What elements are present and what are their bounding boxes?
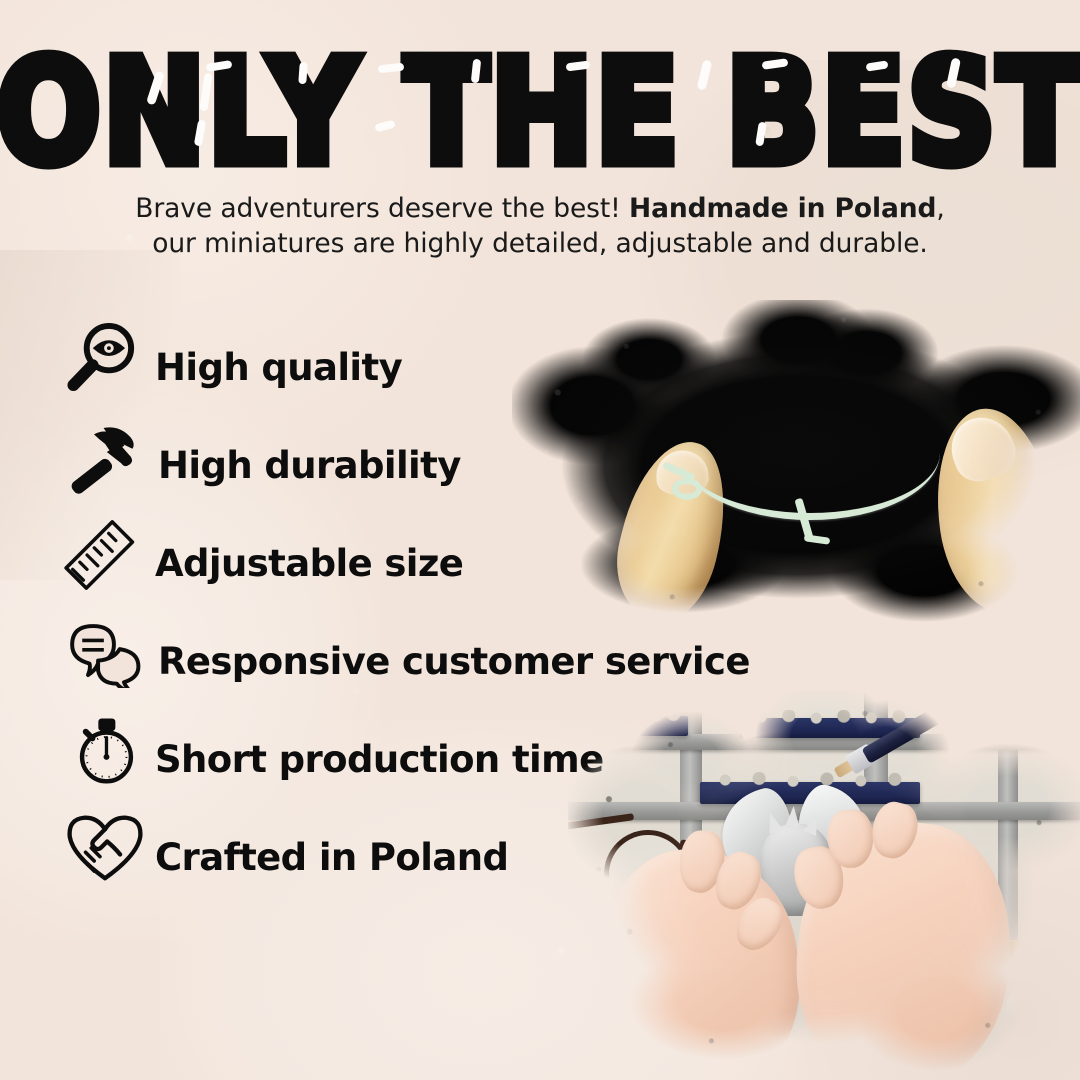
shelf-miniature (1006, 990, 1028, 1024)
miniature-foot (804, 534, 831, 545)
subtitle-line-1: Brave adventurers deserve the best! Hand… (0, 191, 1080, 226)
dragon-spike-2 (785, 806, 800, 827)
parts-bits-top-left (580, 708, 684, 722)
speech-bubbles-icon (66, 616, 146, 688)
subtitle-tail: , (936, 193, 944, 224)
subtitle-lead: Brave adventurers deserve the best! (135, 193, 629, 224)
subtitle-highlight: Handmade in Poland (629, 193, 936, 224)
feature-label: Crafted in Poland (155, 836, 508, 879)
photo-bottom-scene (568, 690, 1080, 1080)
ruler-icon (64, 514, 136, 596)
fingernail-right (942, 408, 1023, 489)
promo-poster: ONLY THE BEST Brave adventurers deserve … (0, 0, 1080, 1080)
page-title: ONLY THE BEST (0, 40, 1080, 184)
hammer-icon (62, 420, 142, 500)
photo-workshop-painting (568, 690, 1080, 1080)
photo-flexible-miniature (512, 300, 1080, 630)
feature-label: Short production time (155, 738, 604, 781)
feature-label: High durability (158, 444, 461, 487)
feature-label: Responsive customer service (158, 640, 750, 683)
finger-segment (826, 809, 874, 869)
feature-label: High quality (155, 346, 402, 389)
miniature-loop (672, 478, 702, 500)
subtitle: Brave adventurers deserve the best! Hand… (0, 191, 1080, 261)
magnifier-eye-icon (66, 320, 140, 394)
subtitle-line-2: our miniatures are highly detailed, adju… (0, 226, 1080, 261)
finger-right (924, 401, 1067, 620)
parts-bits-top-right (744, 710, 916, 724)
heart-handshake-icon (64, 812, 146, 884)
photo-top-scene (512, 300, 1080, 630)
feature-label: Adjustable size (155, 542, 463, 585)
stopwatch-icon (68, 712, 142, 790)
